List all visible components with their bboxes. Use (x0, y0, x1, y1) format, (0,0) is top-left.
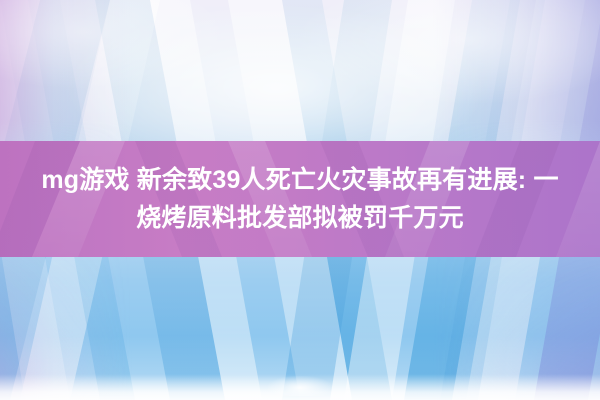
headline-text: mg游戏 新余致39人死亡火灾事故再有进展: 一 烧烤原料批发部拟被罚千万元 (26, 161, 574, 237)
headline-line-2: 烧烤原料批发部拟被罚千万元 (136, 204, 464, 232)
headline-band: mg游戏 新余致39人死亡火灾事故再有进展: 一 烧烤原料批发部拟被罚千万元 (0, 141, 600, 257)
news-banner: mg游戏 新余致39人死亡火灾事故再有进展: 一 烧烤原料批发部拟被罚千万元 (0, 0, 600, 400)
headline-line-1: mg游戏 新余致39人死亡火灾事故再有进展: 一 (41, 166, 558, 194)
watermark-glow (268, 376, 332, 396)
